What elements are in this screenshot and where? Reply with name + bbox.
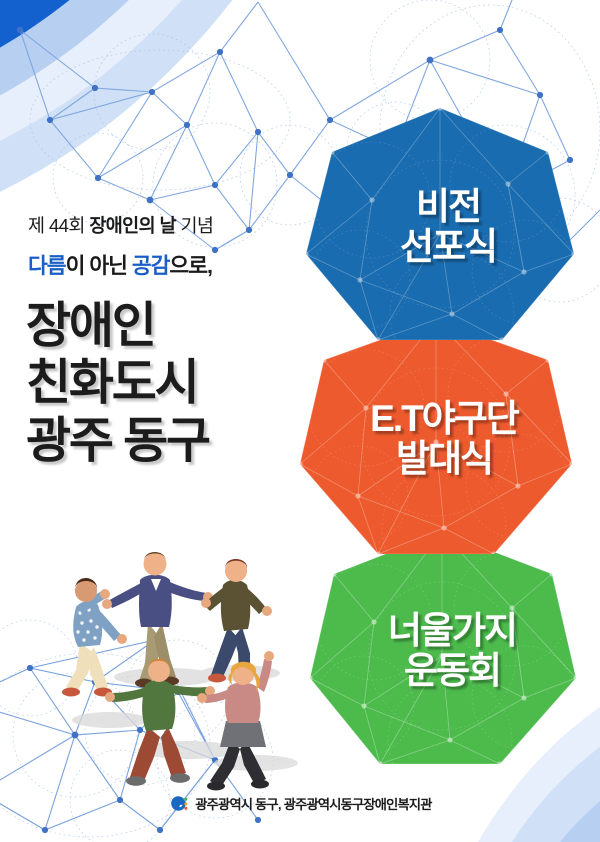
headline-line-2: 친화도시 xyxy=(26,355,306,412)
eyebrow-prefix: 제 44회 xyxy=(28,215,89,236)
tagline-middle: 이 아닌 xyxy=(66,254,132,278)
eyebrow-strong: 장애인의 날 xyxy=(89,215,176,236)
footer: 광주광역시 동구, 광주광역시동구장애인복지관 xyxy=(0,793,600,814)
footer-organizations: 광주광역시 동구, 광주광역시동구장애인복지관 xyxy=(195,794,431,813)
badge-sports-day[interactable]: 너울가지 운동회 xyxy=(306,528,582,774)
badge-baseball-line1: E.T야구단 xyxy=(314,399,574,439)
gwangju-dong-gu-logo-icon xyxy=(168,793,189,814)
tagline-text: 다름이 아닌 공감으로, xyxy=(28,254,306,280)
badge-vision-line1: 비전 xyxy=(318,187,578,227)
tagline-highlight-1: 다름 xyxy=(28,254,66,278)
badge-baseball-label: E.T야구단 발대식 xyxy=(298,399,574,479)
eyebrow-suffix: 기념 xyxy=(176,215,213,236)
people-holding-hands-circle-illustration xyxy=(18,535,318,800)
event-badge-list: 비전 선포식 xyxy=(296,104,600,784)
tagline-end: 으로, xyxy=(169,254,212,278)
headline-block: 제 44회 장애인의 날 기념 다름이 아닌 공감으로, 장애인 친화도시 광주… xyxy=(26,214,306,470)
badge-vision-line2: 선포식 xyxy=(318,227,578,267)
badge-sports-day-line2: 운동회 xyxy=(322,651,582,691)
badge-vision[interactable]: 비전 선포식 xyxy=(302,104,578,350)
badge-vision-label: 비전 선포식 xyxy=(302,187,578,267)
badge-sports-day-line1: 너울가지 xyxy=(322,611,582,651)
headline-line-3: 광주 동구 xyxy=(26,413,306,470)
page-title: 장애인 친화도시 광주 동구 xyxy=(26,298,306,470)
headline-line-1: 장애인 xyxy=(26,298,306,355)
badge-baseball[interactable]: E.T야구단 발대식 xyxy=(298,316,574,562)
badge-baseball-line2: 발대식 xyxy=(314,439,574,479)
badge-sports-day-label: 너울가지 운동회 xyxy=(306,611,582,691)
eyebrow-text: 제 44회 장애인의 날 기념 xyxy=(28,214,306,237)
poster-canvas: 비전 선포식 xyxy=(0,0,600,842)
tagline-highlight-2: 공감 xyxy=(132,254,170,278)
